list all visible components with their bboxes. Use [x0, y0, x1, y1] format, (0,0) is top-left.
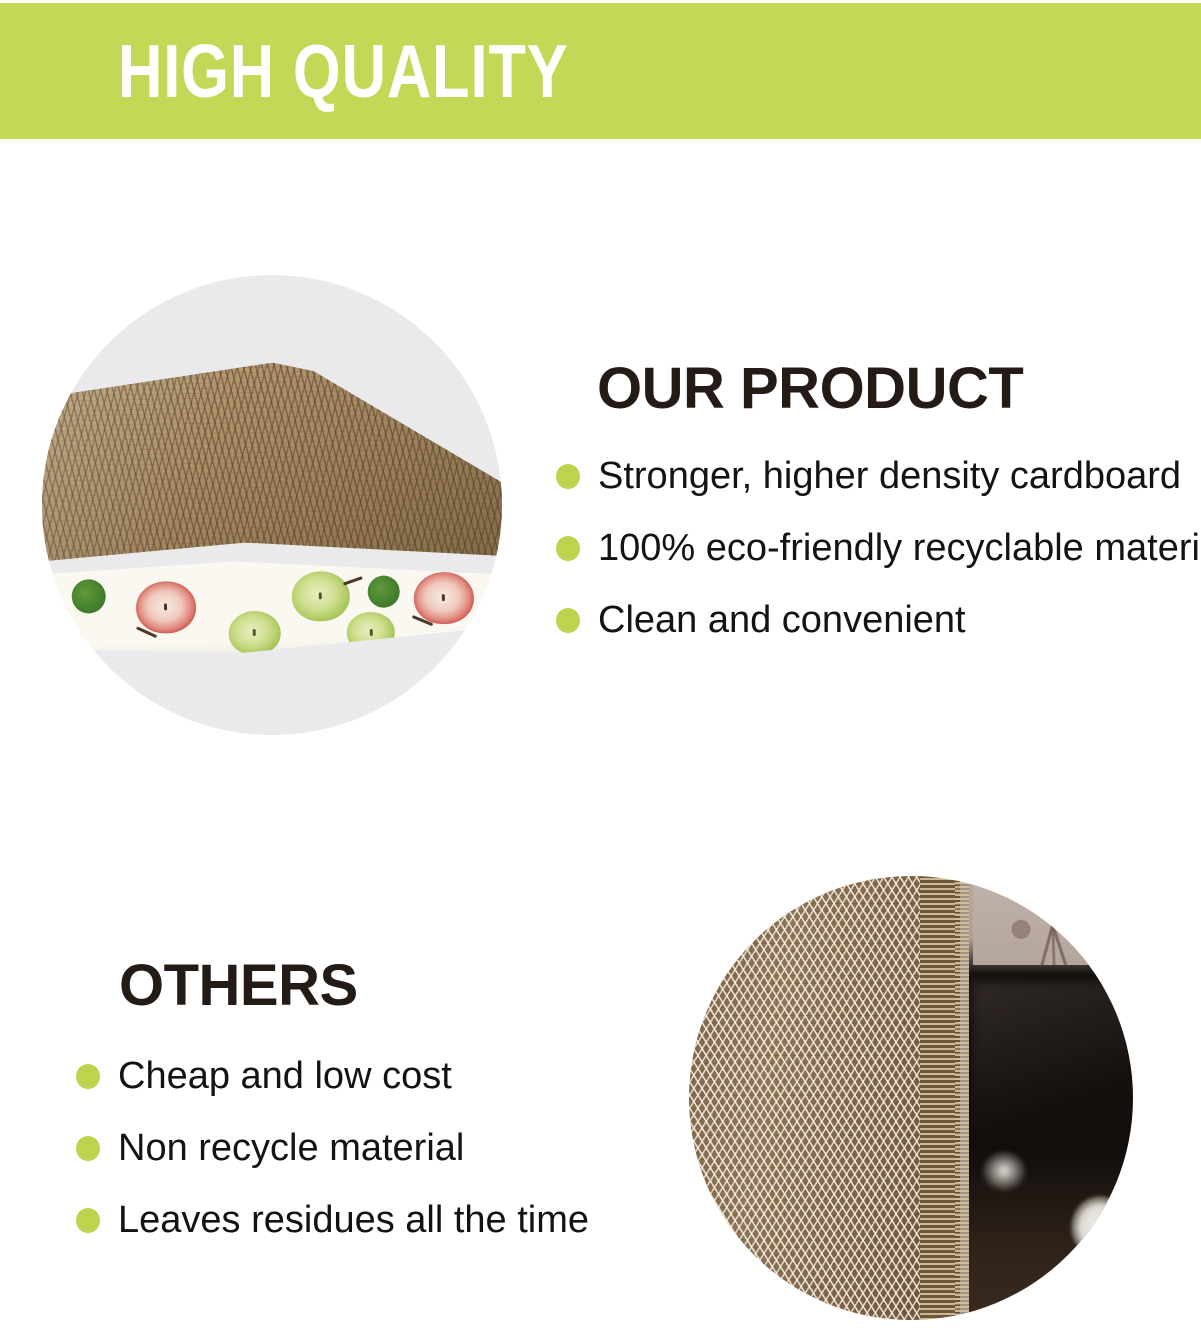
our-product-heading: OUR PRODUCT: [597, 360, 1023, 418]
slab-shading: [42, 359, 502, 598]
list-item-label: 100% eco-friendly recyclable material: [598, 529, 1201, 567]
green-apple-icon: [228, 610, 281, 655]
page-title: HIGH QUALITY: [118, 34, 569, 109]
cat-white-paw-graphic: [1071, 1196, 1129, 1258]
red-apple-icon: [413, 571, 474, 625]
list-item-label: Stronger, higher density cardboard: [598, 457, 1181, 495]
list-item: Clean and convenient: [556, 584, 1201, 656]
bullet-dot-icon: [556, 464, 580, 489]
corrugated-edge-graphic: [920, 876, 960, 1320]
green-apple-icon: [291, 571, 350, 623]
list-item: Stronger, higher density cardboard: [556, 440, 1201, 512]
others-heading: OTHERS: [119, 957, 358, 1015]
list-item: Leaves residues all the time: [76, 1184, 589, 1256]
green-leaf-icon: [42, 609, 45, 640]
bullet-dot-icon: [556, 536, 580, 561]
apple-pattern-band: [42, 550, 502, 660]
corrugated-slab-graphic: [42, 359, 502, 598]
bullet-dot-icon: [76, 1208, 100, 1233]
green-leaf-icon: [367, 575, 400, 608]
list-item-label: Clean and convenient: [598, 601, 966, 639]
green-apple-icon: [346, 611, 395, 652]
bullet-dot-icon: [76, 1136, 100, 1161]
list-item-label: Leaves residues all the time: [118, 1201, 589, 1239]
bullet-dot-icon: [76, 1064, 100, 1089]
list-item: Cheap and low cost: [76, 1040, 589, 1112]
bullet-dot-icon: [556, 608, 580, 633]
others-drawback-list: Cheap and low cost Non recycle material …: [76, 1040, 589, 1256]
cardboard-photo: [689, 876, 1133, 1320]
list-item: Non recycle material: [76, 1112, 589, 1184]
list-item: 100% eco-friendly recyclable material: [556, 512, 1201, 584]
list-item-label: Non recycle material: [118, 1129, 464, 1167]
our-product-benefit-list: Stronger, higher density cardboard 100% …: [556, 440, 1201, 656]
header-banner: HIGH QUALITY: [0, 3, 1201, 139]
list-item-label: Cheap and low cost: [118, 1057, 452, 1095]
corrugated-face-graphic: [689, 876, 938, 1320]
wall-stem-pattern-graphic: [1000, 885, 1107, 965]
green-leaf-icon: [71, 579, 106, 614]
product-photo: [42, 275, 502, 735]
apple-stem-icon: [343, 576, 363, 586]
red-apple-icon: [135, 581, 196, 635]
